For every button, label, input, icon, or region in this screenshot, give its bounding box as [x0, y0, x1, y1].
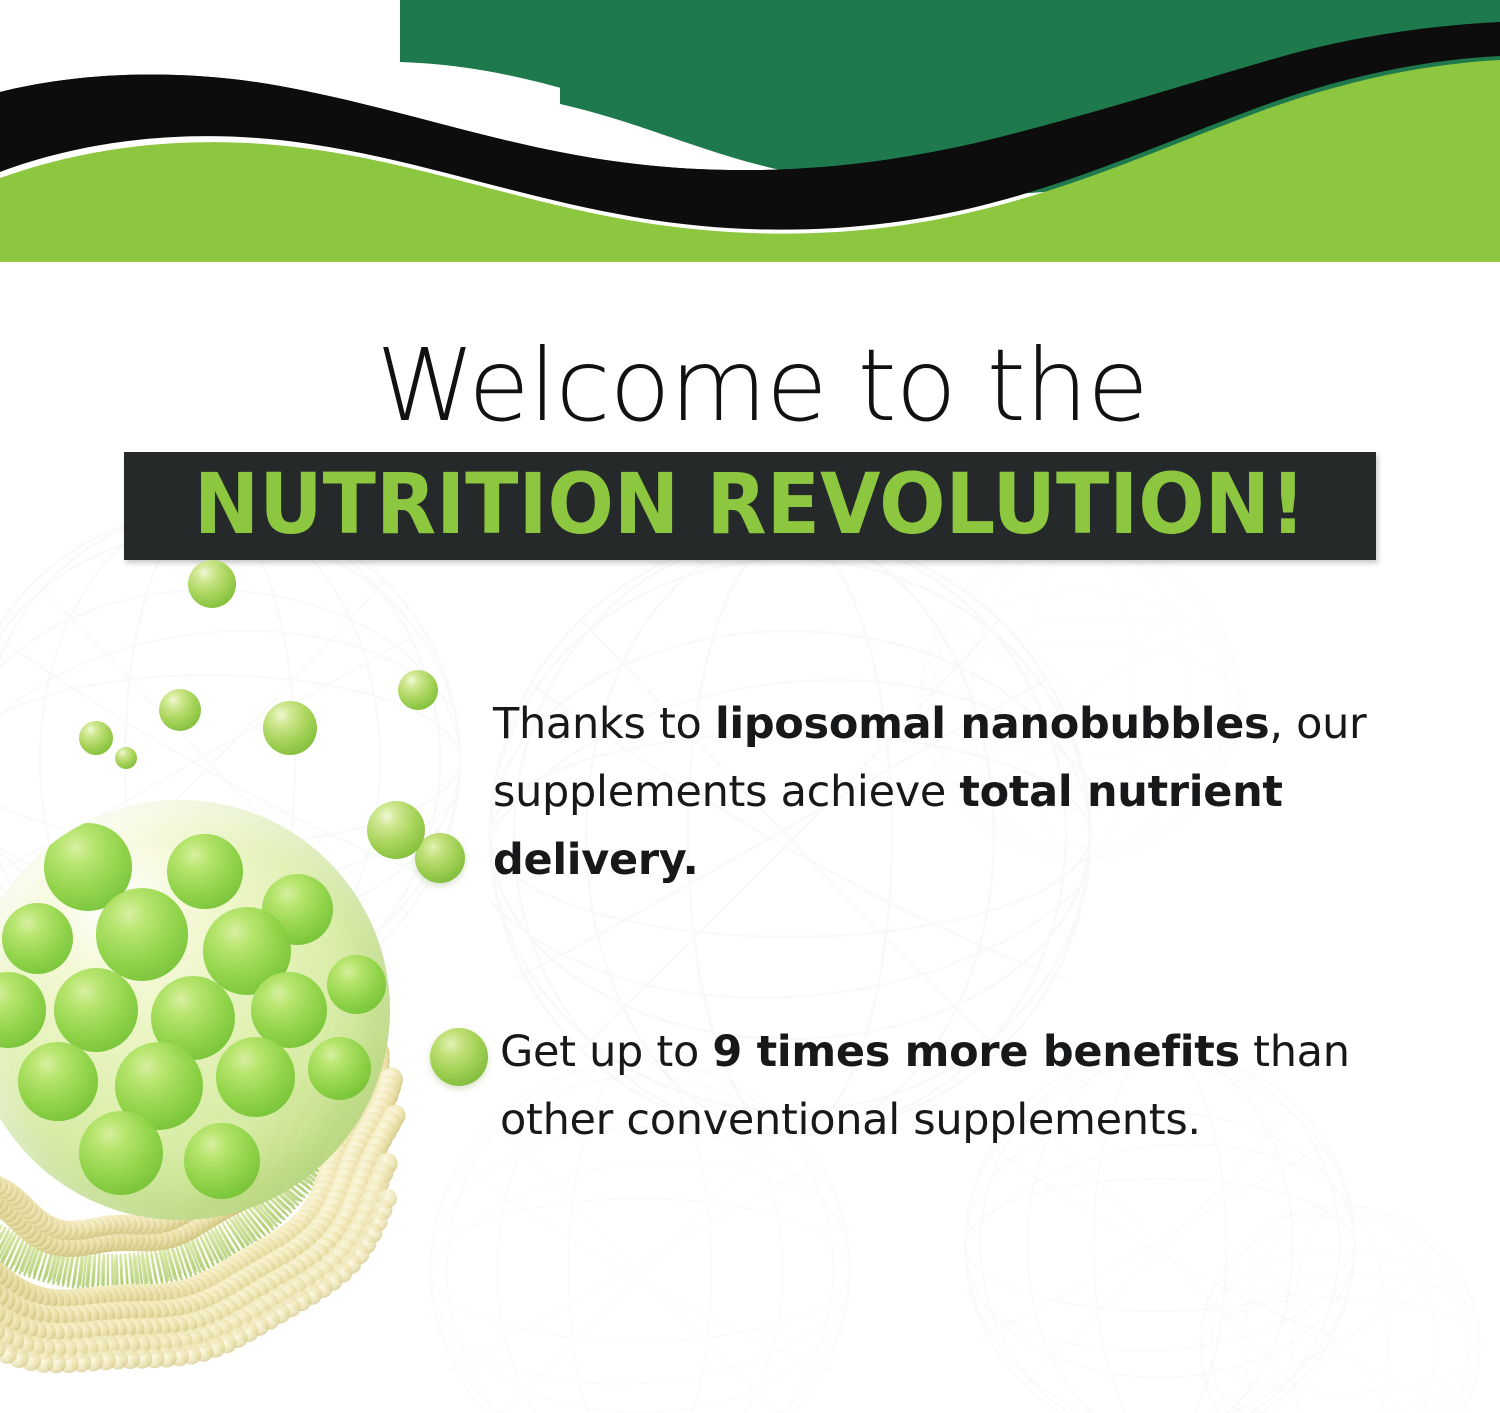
headline-welcome-line: Welcome to the	[0, 336, 1500, 436]
phospholipid-head	[269, 1099, 289, 1119]
phospholipid-tail	[139, 1259, 142, 1282]
phospholipid-head	[218, 1258, 244, 1284]
phospholipid-head	[248, 1154, 268, 1174]
phospholipid-tail	[2, 1238, 12, 1259]
phospholipid-head	[34, 1322, 56, 1344]
phospholipid-head	[302, 1074, 324, 1096]
phospholipid-tail	[299, 1154, 319, 1166]
phospholipid-head	[20, 1221, 42, 1243]
phospholipid-tail	[317, 1099, 351, 1109]
phospholipid-head	[236, 1185, 258, 1207]
phospholipid-head	[311, 1180, 337, 1206]
phospholipid-tail	[133, 1260, 135, 1283]
phospholipid-tail	[325, 1092, 347, 1097]
phospholipid-head	[114, 1318, 136, 1340]
phospholipid-head	[364, 1047, 390, 1073]
phospholipid-head	[195, 1191, 215, 1211]
phospholipid-tail	[320, 1099, 348, 1107]
phospholipid-head	[287, 1214, 313, 1240]
phospholipid-tail	[283, 1168, 311, 1189]
phospholipid-head	[168, 1207, 188, 1227]
phospholipid-head	[377, 1075, 401, 1099]
phospholipid-head	[71, 1352, 91, 1372]
phospholipid-head	[346, 1139, 370, 1163]
phospholipid-head	[0, 1196, 14, 1218]
phospholipid-tail	[265, 1198, 281, 1215]
phospholipid-head	[9, 1190, 29, 1210]
phospholipid-head	[124, 1215, 144, 1235]
phospholipid-head	[209, 1200, 231, 1222]
inner-nanobubble-16	[79, 1111, 163, 1195]
phospholipid-head	[13, 1299, 37, 1323]
phospholipid-head	[248, 1299, 270, 1321]
phospholipid-head	[66, 1288, 92, 1314]
phospholipid-tail	[184, 1242, 196, 1275]
phospholipid-head	[143, 1214, 163, 1234]
phospholipid-tail	[159, 1249, 167, 1283]
phospholipid-head	[52, 1306, 76, 1330]
phospholipid-head	[45, 1289, 71, 1315]
phospholipid-tail	[87, 1260, 89, 1283]
phospholipid-head	[86, 1217, 106, 1237]
phospholipid-head	[206, 1265, 232, 1291]
phospholipid-head	[60, 1306, 84, 1330]
phospholipid-head	[201, 1323, 223, 1345]
phospholipid-head	[353, 1125, 377, 1149]
phospholipid-head	[368, 1172, 390, 1194]
phospholipid-tail	[230, 1219, 250, 1248]
phospholipid-tail	[39, 1246, 49, 1280]
phospholipid-tail	[308, 1138, 329, 1148]
phospholipid-tail	[147, 1252, 153, 1287]
phospholipid-head	[304, 1222, 328, 1246]
light-green-wave-lower	[0, 62, 1500, 262]
copy-seg-2: liposomal nanobubbles	[715, 699, 1269, 749]
phospholipid-tail	[246, 1211, 264, 1234]
phospholipid-head	[122, 1301, 146, 1325]
phospholipid-head	[5, 1296, 29, 1320]
phospholipid-tail	[305, 1138, 331, 1151]
phospholipid-head	[25, 1286, 51, 1312]
phospholipid-head	[145, 1300, 169, 1324]
phospholipid-head	[281, 1297, 301, 1317]
phospholipid-tail	[131, 1257, 134, 1286]
phospholipid-tail	[58, 1250, 65, 1284]
phospholipid-tail	[260, 1202, 276, 1219]
phospholipid-head	[174, 1204, 194, 1224]
phospholipid-head	[98, 1215, 118, 1235]
phospholipid-head	[1, 1204, 23, 1226]
phospholipid-head	[303, 1266, 325, 1288]
phospholipid-head	[148, 1283, 174, 1309]
phospholipid-head	[288, 1096, 310, 1118]
phospholipid-tail	[290, 1158, 319, 1177]
phospholipid-tail	[257, 1197, 281, 1223]
phospholipid-head	[25, 1320, 47, 1342]
phospholipid-head	[276, 1223, 302, 1249]
phospholipid-tail	[1, 1234, 16, 1266]
phospholipid-tail	[188, 1240, 201, 1273]
phospholipid-tail	[263, 1191, 288, 1216]
phospholipid-head	[240, 1164, 260, 1184]
phospholipid-tail	[196, 1240, 207, 1267]
phospholipid-head	[372, 1090, 396, 1114]
phospholipid-tail	[163, 1255, 169, 1277]
phospholipid-head	[87, 1336, 109, 1358]
phospholipid-tail	[285, 1165, 314, 1185]
phospholipid-tail	[291, 1161, 315, 1177]
phospholipid-head	[193, 1209, 215, 1231]
phospholipid-tail	[323, 1098, 345, 1104]
phospholipid-tail	[254, 1204, 273, 1226]
phospholipid-head	[157, 1348, 177, 1368]
phospholipid-head	[169, 1346, 189, 1366]
phospholipid-tail	[181, 1249, 188, 1271]
phospholipid-head	[376, 1153, 398, 1175]
phospholipid-tail	[172, 1249, 180, 1277]
phospholipid-head	[267, 1147, 289, 1169]
phospholipid-tail	[101, 1261, 102, 1284]
phospholipid-head	[142, 1229, 164, 1251]
phospholipid-tail	[272, 1186, 294, 1205]
phospholipid-head	[168, 1280, 194, 1306]
phospholipid-head	[179, 1201, 199, 1221]
phospholipid-tail	[115, 1258, 116, 1287]
phospholipid-head	[245, 1159, 265, 1179]
phospholipid-head	[198, 1288, 222, 1312]
phospholipid-tail	[206, 1236, 219, 1262]
phospholipid-head	[337, 1160, 361, 1184]
body-paragraph-liposomal: Thanks to liposomal nanobubbles, our sup…	[493, 690, 1398, 894]
phospholipid-head	[96, 1319, 118, 1341]
phospholipid-head	[9, 1348, 29, 1368]
phospholipid-tail	[198, 1243, 207, 1264]
phospholipid-head	[200, 1306, 222, 1328]
phospholipid-tail	[285, 1170, 308, 1187]
floating-nanobubble-1	[188, 560, 236, 608]
phospholipid-head	[192, 1309, 214, 1331]
phospholipid-head	[94, 1285, 120, 1311]
phospholipid-head	[254, 1276, 276, 1298]
phospholipid-head	[0, 1274, 25, 1300]
phospholipid-tail	[296, 1160, 315, 1173]
copy2-seg-1: Get up to	[500, 1027, 712, 1077]
inner-nanobubble-1	[44, 823, 132, 911]
phospholipid-head	[270, 1304, 290, 1324]
phospholipid-tail	[318, 1115, 340, 1123]
phospholipid-head	[93, 1231, 115, 1253]
phospholipid-tail	[11, 1237, 25, 1269]
floating-nanobubble-5	[398, 670, 438, 710]
phospholipid-head	[309, 1050, 331, 1072]
phospholipid-tail	[274, 1179, 301, 1202]
phospholipid-head	[36, 1305, 60, 1329]
phospholipid-head	[300, 1249, 322, 1271]
phospholipid-head	[18, 1199, 38, 1219]
phospholipid-tail	[250, 1208, 269, 1230]
phospholipid-tail	[176, 1245, 187, 1278]
phospholipid-head	[76, 1337, 98, 1359]
phospholipid-head	[0, 1179, 14, 1199]
phospholipid-head	[87, 1286, 113, 1312]
phospholipid-head	[325, 1142, 351, 1168]
phospholipid-tail	[130, 1254, 133, 1289]
phospholipid-tail	[34, 1247, 43, 1275]
phospholipid-tail	[231, 1225, 244, 1244]
phospholipid-head	[339, 1153, 363, 1177]
phospholipid-tail	[311, 1124, 338, 1135]
phospholipid-head	[200, 1268, 226, 1294]
phospholipid-tail	[220, 1228, 235, 1253]
phospholipid-tail	[127, 1260, 129, 1283]
phospholipid-head	[0, 1288, 15, 1312]
phospholipid-head	[92, 1216, 112, 1236]
phospholipid-head	[307, 1063, 329, 1085]
phospholipid-head	[28, 1208, 48, 1228]
phospholipid-head	[52, 1220, 72, 1240]
phospholipid-head	[235, 1248, 261, 1274]
phospholipid-head	[201, 1188, 221, 1208]
phospholipid-tail	[211, 1230, 228, 1261]
phospholipid-tail	[215, 1235, 226, 1255]
phospholipid-head	[190, 1194, 210, 1214]
phospholipid-head	[282, 1106, 304, 1128]
phospholipid-tail	[163, 1248, 172, 1282]
phospholipid-tail	[256, 1206, 271, 1223]
phospholipid-head	[16, 1318, 38, 1340]
phospholipid-head	[107, 1284, 133, 1310]
phospholipid-tail	[45, 1250, 53, 1278]
phospholipid-tail	[277, 1175, 304, 1197]
phospholipid-tail	[103, 1255, 104, 1290]
inner-nanobubble-13	[115, 1042, 203, 1130]
phospholipid-head	[335, 1209, 357, 1231]
phospholipid-tail	[313, 1127, 334, 1136]
phospholipid-tail	[0, 1232, 13, 1263]
phospholipid-head	[344, 1106, 370, 1132]
phospholipid-head	[130, 1301, 154, 1325]
phospholipid-head	[273, 1246, 297, 1270]
phospholipid-head	[46, 1353, 66, 1373]
phospholipid-tail	[121, 1255, 123, 1290]
phospholipid-tail	[187, 1244, 197, 1271]
phospholipid-head	[0, 1261, 8, 1287]
phospholipid-tail	[265, 1193, 286, 1213]
phospholipid-tail	[292, 1165, 311, 1178]
phospholipid-head	[241, 1244, 267, 1270]
phospholipid-tail	[88, 1254, 91, 1289]
phospholipid-tail	[241, 1214, 259, 1237]
phospholipid-tail	[142, 1253, 147, 1288]
phospholipid-tail	[272, 1182, 298, 1205]
phospholipid-head	[15, 1217, 37, 1239]
bullet-nanobubble-icon-2	[430, 1028, 488, 1086]
phospholipid-tail	[280, 1172, 308, 1194]
phospholipid-tail	[125, 1258, 127, 1287]
phospholipid-head	[59, 1353, 79, 1373]
phospholipid-head	[218, 1179, 238, 1199]
phospholipid-head	[176, 1296, 200, 1320]
phospholipid-tail	[215, 1231, 229, 1256]
phospholipid-head	[191, 1326, 213, 1348]
phospholipid-tail	[294, 1151, 324, 1169]
phospholipid-head	[259, 1234, 285, 1260]
phospholipid-head	[363, 1061, 389, 1087]
phospholipid-head	[341, 1254, 361, 1274]
phospholipid-tail	[321, 1083, 355, 1090]
inner-nanobubble-12	[18, 1042, 98, 1122]
dark-green-wave-shape	[560, 0, 1500, 194]
phospholipid-head	[320, 1231, 342, 1253]
phospholipid-tail	[309, 1129, 335, 1141]
phospholipid-head	[262, 1159, 284, 1181]
phospholipid-head	[285, 1259, 307, 1281]
phospholipid-tail	[300, 1148, 325, 1162]
phospholipid-head	[49, 1235, 71, 1257]
phospholipid-head	[275, 1123, 297, 1145]
phospholipid-head	[220, 1194, 242, 1216]
phospholipid-head	[198, 1206, 220, 1228]
phospholipid-head	[181, 1345, 201, 1365]
phospholipid-tail	[299, 1143, 330, 1160]
inner-nanobubble-9	[151, 976, 235, 1060]
phospholipid-tail	[134, 1254, 138, 1289]
phospholipid-head	[299, 1080, 321, 1102]
phospholipid-tail	[54, 1255, 59, 1277]
phospholipid-tail	[63, 1251, 70, 1285]
phospholipid-head	[377, 1189, 397, 1209]
phospholipid-tail	[104, 1258, 105, 1287]
phospholipid-head	[379, 1113, 401, 1135]
phospholipid-tail	[98, 1255, 100, 1290]
inner-nanobubble-4	[2, 903, 73, 974]
inner-nanobubble-3	[262, 874, 333, 945]
phospholipid-head	[314, 1210, 338, 1234]
phospholipid-head	[334, 1167, 358, 1191]
copy2-seg-2: 9 times more benefits	[712, 1027, 1239, 1077]
phospholipid-head	[73, 1288, 99, 1314]
phospholipid-tail	[314, 1108, 347, 1119]
phospholipid-head	[4, 1186, 24, 1206]
phospholipid-head	[0, 1257, 3, 1283]
phospholipid-head	[212, 1262, 238, 1288]
floating-nanobubble-3	[159, 689, 201, 731]
phospholipid-tail	[73, 1253, 78, 1288]
phospholipid-head	[0, 1190, 4, 1212]
phospholipid-head	[185, 1198, 205, 1218]
phospholipid-head	[0, 1270, 19, 1296]
phospholipid-head	[12, 1334, 34, 1356]
phospholipid-tail	[187, 1247, 195, 1269]
phospholipid-head	[160, 1332, 182, 1354]
phospholipid-head	[33, 1338, 55, 1360]
phospholipid-tail	[236, 1222, 249, 1241]
phospholipid-head	[105, 1215, 125, 1235]
phospholipid-head	[66, 1338, 88, 1360]
phospholipid-head	[316, 1167, 342, 1193]
phospholipid-head	[329, 1182, 353, 1206]
phospholipid-head	[31, 1287, 57, 1313]
phospholipid-tail	[287, 1161, 316, 1181]
phospholipid-head	[320, 1154, 346, 1180]
phospholipid-head	[161, 1282, 187, 1308]
phospholipid-tail	[260, 1194, 284, 1219]
phospholipid-head	[279, 1112, 301, 1134]
inner-nanobubble-7	[0, 972, 46, 1048]
phospholipid-tail	[40, 1249, 48, 1277]
phospholipid-tail	[322, 1079, 357, 1085]
phospholipid-tail	[269, 1185, 295, 1209]
phospholipid-tail	[15, 1244, 24, 1265]
phospholipid-head	[292, 1291, 312, 1311]
phospholipid-head	[79, 1321, 101, 1343]
phospholipid-head	[61, 1322, 83, 1344]
phospholipid-head	[260, 1123, 280, 1143]
phospholipid-head	[149, 1214, 169, 1234]
phospholipid-head	[371, 1128, 393, 1150]
phospholipid-tail	[17, 1242, 28, 1269]
phospholipid-tail	[6, 1238, 18, 1264]
phospholipid-head	[171, 1331, 193, 1353]
phospholipid-tail	[200, 1235, 215, 1267]
phospholipid-head	[359, 1151, 381, 1173]
phospholipid-head	[360, 1191, 382, 1213]
phospholipid-tail	[86, 1257, 89, 1286]
phospholipid-head	[318, 1203, 342, 1227]
phospholipid-head	[368, 1212, 388, 1232]
phospholipid-head	[362, 1144, 384, 1166]
phospholipid-head	[356, 1234, 376, 1254]
phospholipid-tail	[145, 1258, 149, 1281]
phospholipid-tail	[94, 1261, 96, 1284]
phospholipid-tail	[226, 1228, 238, 1248]
phospholipid-head	[371, 1162, 393, 1184]
phospholipid-tail	[261, 1197, 281, 1218]
phospholipid-head	[349, 1176, 371, 1198]
phospholipid-head	[232, 1290, 254, 1312]
phospholipid-head	[136, 1215, 156, 1235]
phospholipid-head	[232, 1269, 256, 1293]
phospholipid-head	[258, 1129, 278, 1149]
phospholipid-tail	[297, 1147, 327, 1164]
phospholipid-head	[59, 1289, 85, 1315]
phospholipid-tail	[204, 1234, 219, 1266]
inner-nanobubble-17	[184, 1123, 260, 1199]
phospholipid-tail	[44, 1247, 53, 1281]
phospholipid-tail	[305, 1144, 325, 1155]
phospholipid-head	[10, 1213, 32, 1235]
phospholipid-tail	[74, 1259, 77, 1282]
phospholipid-head	[205, 1285, 229, 1309]
phospholipid-head	[249, 1316, 269, 1336]
phospholipid-head	[68, 1305, 92, 1329]
phospholipid-tail	[98, 1258, 99, 1287]
phospholipid-head	[269, 1141, 291, 1163]
phospholipid-tail	[47, 1254, 53, 1276]
phospholipid-head	[271, 1227, 297, 1253]
phospholipid-head	[25, 1225, 47, 1247]
phospholipid-head	[0, 1311, 21, 1333]
phospholipid-tail	[21, 1246, 29, 1267]
phospholipid-head	[88, 1320, 110, 1342]
phospholipid-tail	[0, 1236, 7, 1256]
phospholipid-tail	[269, 1194, 286, 1210]
phospholipid-tail	[318, 1095, 352, 1104]
phospholipid-head	[193, 1342, 213, 1362]
phospholipid-head	[308, 1056, 330, 1078]
phospholipid-head	[349, 1132, 373, 1156]
phospholipid-head	[99, 1230, 121, 1252]
